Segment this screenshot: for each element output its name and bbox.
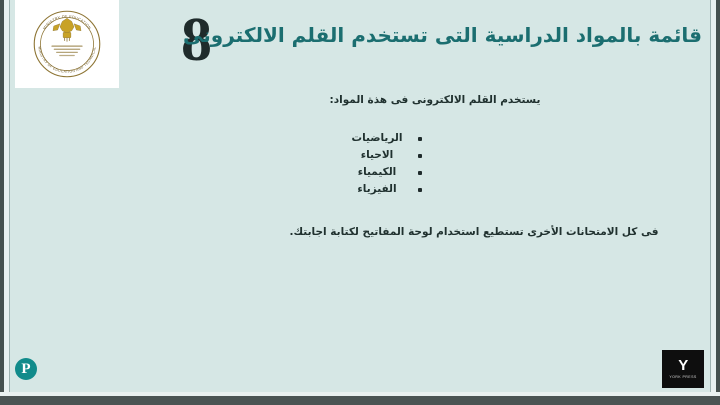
egypt-ministry-of-education-seal-icon: MINISTRY OF EDUCATION MINISTRY OF EDUCAT… xyxy=(28,5,106,83)
slide-border-left-hairline xyxy=(9,0,10,405)
subject-label: الاحياء xyxy=(350,147,404,164)
ministry-logo-container: MINISTRY OF EDUCATION MINISTRY OF EDUCAT… xyxy=(15,0,119,88)
bullet-icon xyxy=(418,188,422,192)
slide-border-right xyxy=(716,0,720,405)
list-item: الرياضيات xyxy=(266,130,686,147)
subject-label: الكيمياء xyxy=(350,164,404,181)
slide-body: يستخدم القلم الالكترونى فى هذة المواد: ا… xyxy=(266,92,686,241)
intro-text: يستخدم القلم الالكترونى فى هذة المواد: xyxy=(266,92,686,108)
slide-border-bottom xyxy=(0,396,720,405)
bullet-icon xyxy=(418,137,422,141)
list-item: الاحياء xyxy=(266,147,686,164)
subject-label: الرياضيات xyxy=(350,130,404,147)
york-logo-mark: Y xyxy=(678,358,688,373)
slide-title: قائمة بالمواد الدراسية التى تستخدم القلم… xyxy=(234,20,702,50)
pearson-logo-icon: P xyxy=(15,358,37,380)
subject-label: الفيزياء xyxy=(350,181,404,198)
bullet-icon xyxy=(418,171,422,175)
subject-list: الرياضيات الاحياء الكيمياء الفيزياء xyxy=(266,130,686,198)
closing-text: فى كل الامتحانات الأخرى تستطيع استخدام ل… xyxy=(266,224,686,241)
list-item: الكيمياء xyxy=(266,164,686,181)
york-logo-name: YORK PRESS xyxy=(669,375,696,380)
bullet-icon xyxy=(418,154,422,158)
york-press-logo-icon: Y YORK PRESS xyxy=(662,350,704,388)
list-item: الفيزياء xyxy=(266,181,686,198)
presentation-slide: MINISTRY OF EDUCATION MINISTRY OF EDUCAT… xyxy=(0,0,720,405)
